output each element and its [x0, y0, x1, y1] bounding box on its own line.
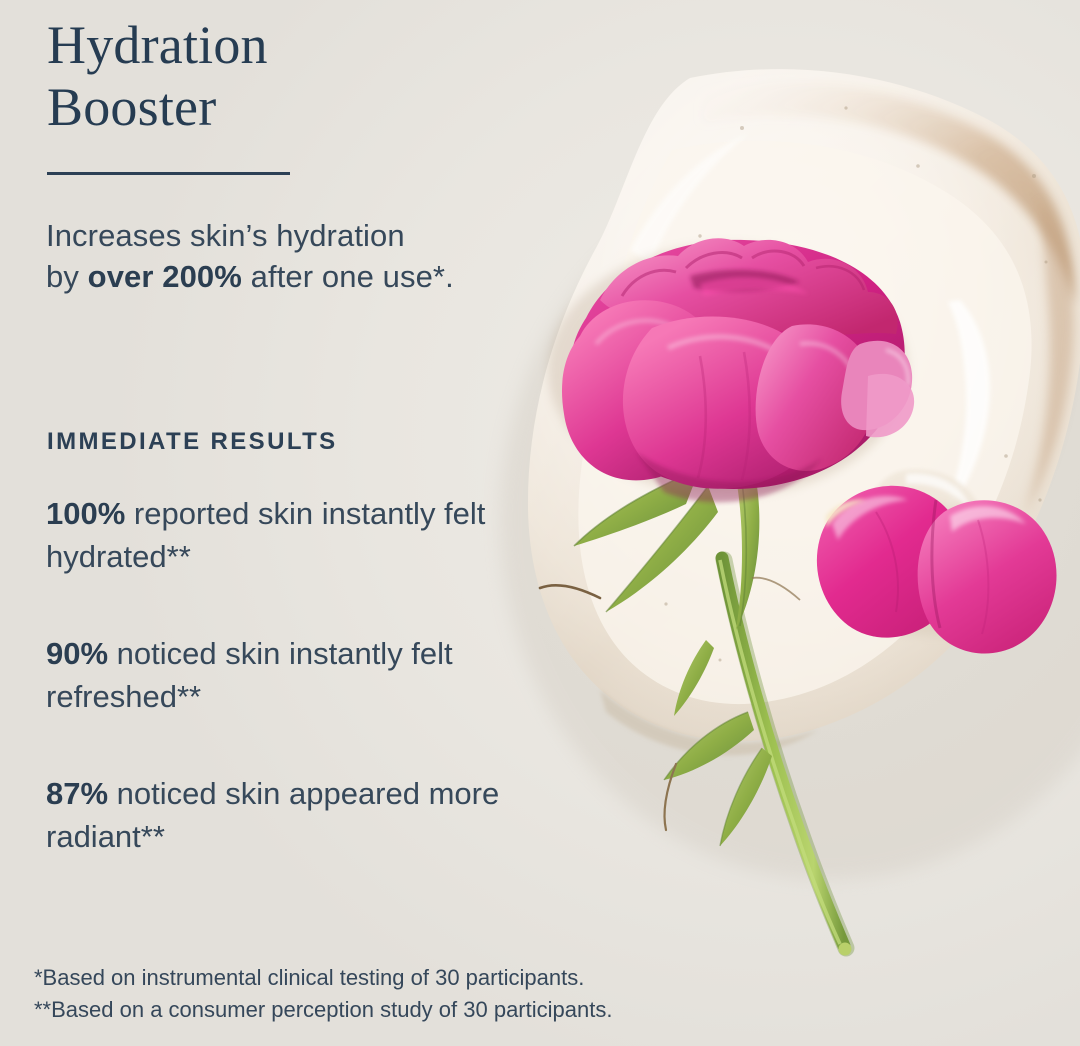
result-stat-2: 90% noticed skin instantly felt refreshe…: [46, 632, 566, 718]
footnotes: *Based on instrumental clinical testing …: [34, 962, 612, 1026]
page-title: Hydration Booster: [47, 14, 268, 138]
hydration-booster-infographic: Hydration Booster Increases skin’s hydra…: [0, 0, 1080, 1046]
result-stat-1: 100% reported skin instantly felt hydrat…: [46, 492, 566, 578]
result-stat-3-value: 87%: [46, 776, 108, 811]
results-eyebrow: IMMEDIATE RESULTS: [47, 428, 338, 456]
footnote-1: *Based on instrumental clinical testing …: [34, 962, 612, 994]
subhead-highlight: over 200%: [88, 259, 242, 294]
title-divider: [47, 172, 290, 175]
copy-column: Hydration Booster Increases skin’s hydra…: [0, 0, 1080, 1046]
result-stat-1-value: 100%: [46, 496, 125, 531]
footnote-2: **Based on a consumer perception study o…: [34, 994, 612, 1026]
result-stat-3-text: noticed skin appeared more radiant**: [46, 776, 499, 854]
result-stat-3: 87% noticed skin appeared more radiant**: [46, 772, 566, 858]
result-stat-2-value: 90%: [46, 636, 108, 671]
subhead-suffix: after one use*.: [242, 259, 454, 294]
subhead: Increases skin’s hydration by over 200% …: [46, 215, 454, 297]
